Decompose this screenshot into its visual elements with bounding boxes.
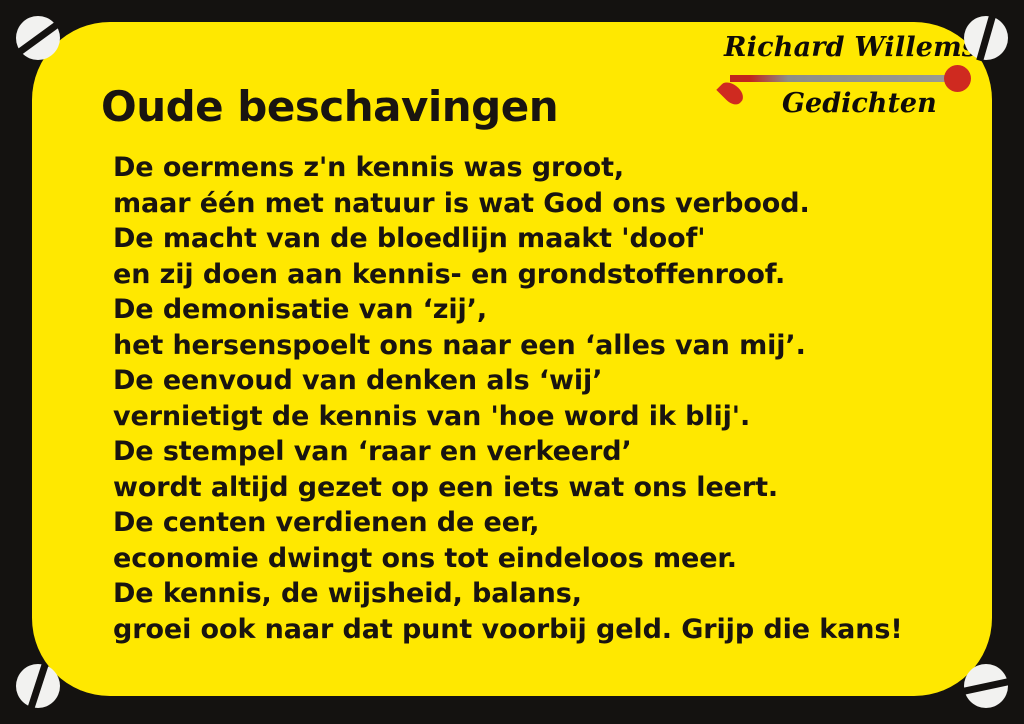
poem-line: De oermens z'n kennis was groot, (113, 150, 993, 186)
screw-slot (976, 15, 995, 61)
screw-slot (963, 678, 1009, 694)
poem-poster: Richard Willemse Gedichten Oude beschavi… (0, 0, 1024, 724)
poem-line: De kennis, de wijsheid, balans, (113, 576, 993, 612)
poem-line: economie dwingt ons tot eindeloos meer. (113, 541, 993, 577)
poem-line: maar één met natuur is wat God ons verbo… (113, 186, 993, 222)
blood-drop-icon (716, 78, 746, 108)
logo-dot-icon (944, 65, 971, 92)
poem-line: groei ook naar dat punt voorbij geld. Gr… (113, 612, 993, 648)
screw-icon-top-right (964, 16, 1008, 60)
screw-icon-bottom-right (964, 664, 1008, 708)
logo-author-name: Richard Willemse (724, 34, 995, 61)
screw-slot (28, 663, 49, 709)
poem-line: De centen verdienen de eer, (113, 505, 993, 541)
poem-line: De macht van de bloedlijn maakt 'doof' (113, 221, 993, 257)
poem-body: De oermens z'n kennis was groot,maar één… (113, 150, 993, 647)
brand-logo: Richard Willemse Gedichten (716, 34, 978, 132)
screw-slot (17, 22, 58, 55)
poem-line: De demonisatie van ‘zij’, (113, 292, 993, 328)
page-title: Oude beschavingen (101, 82, 558, 131)
logo-subtitle: Gedichten (782, 90, 937, 117)
poem-line: wordt altijd gezet op een iets wat ons l… (113, 470, 993, 506)
logo-divider-bar (730, 75, 954, 82)
screw-icon-top-left (16, 16, 60, 60)
screw-icon-bottom-left (16, 664, 60, 708)
poem-line: vernietigt de kennis van 'hoe word ik bl… (113, 399, 993, 435)
poem-line: en zij doen aan kennis- en grondstoffenr… (113, 257, 993, 293)
poem-line: De eenvoud van denken als ‘wij’ (113, 363, 993, 399)
poem-line: het hersenspoelt ons naar een ‘alles van… (113, 328, 993, 364)
poem-line: De stempel van ‘raar en verkeerd’ (113, 434, 993, 470)
